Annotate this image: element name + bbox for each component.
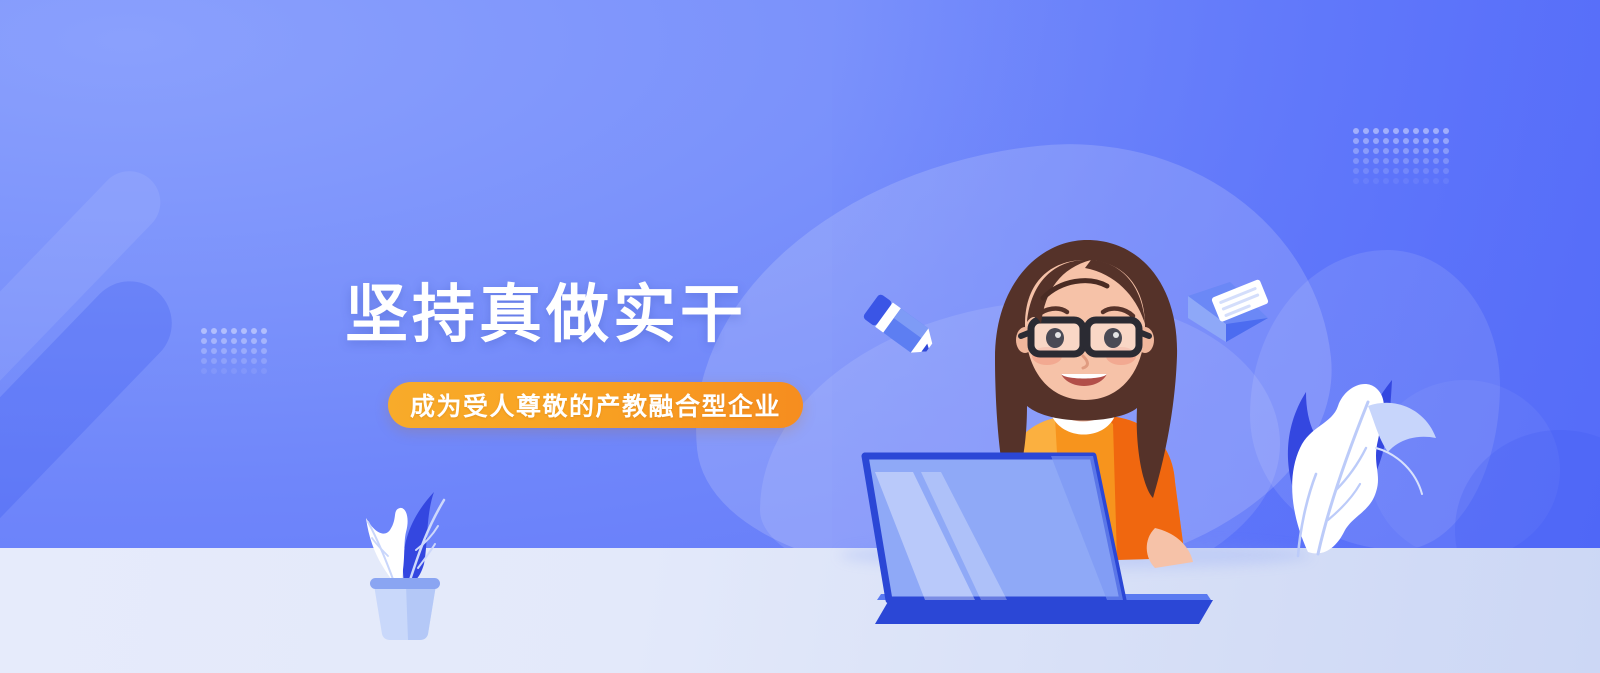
grid-dot [1443, 178, 1449, 184]
grid-dot [211, 348, 217, 354]
grid-dot [1443, 158, 1449, 164]
grid-dot [201, 368, 207, 374]
grid-dot [221, 368, 227, 374]
grid-dot [1423, 158, 1429, 164]
grid-dot [1363, 128, 1369, 134]
subtitle-pill: 成为受人尊敬的产教融合型企业 [388, 382, 803, 428]
laptop-base [875, 600, 1213, 624]
grid-dot [1433, 128, 1439, 134]
woman-working-illustration [855, 228, 1275, 648]
grid-dot [1383, 138, 1389, 144]
grid-dot [261, 338, 267, 344]
grid-dot [1363, 168, 1369, 174]
grid-dot [1383, 168, 1389, 174]
grid-dot [1353, 178, 1359, 184]
grid-dot [201, 358, 207, 364]
grid-dot [1373, 158, 1379, 164]
grid-dot [1403, 128, 1409, 134]
grid-dot [1393, 138, 1399, 144]
grid-dot [1433, 158, 1439, 164]
grid-dot [1423, 138, 1429, 144]
grid-dot [1383, 148, 1389, 154]
grid-dot [1403, 168, 1409, 174]
grid-dot [1363, 148, 1369, 154]
grid-dot [1423, 178, 1429, 184]
grid-dot [1413, 168, 1419, 174]
grid-dot [1393, 168, 1399, 174]
grid-dot [211, 338, 217, 344]
grid-dot [1413, 138, 1419, 144]
dot-grid-left-icon [201, 328, 267, 374]
grid-dot [1393, 178, 1399, 184]
grid-dot [261, 358, 267, 364]
grid-dot [221, 338, 227, 344]
grid-dot [1433, 148, 1439, 154]
grid-dot [1373, 138, 1379, 144]
grid-dot [1403, 178, 1409, 184]
grid-dot [1423, 128, 1429, 134]
grid-dot [261, 328, 267, 334]
grid-dot [1413, 148, 1419, 154]
grid-dot [1393, 158, 1399, 164]
grid-dot [221, 348, 227, 354]
grid-dot [1393, 148, 1399, 154]
grid-dot [201, 338, 207, 344]
potted-plant-icon [348, 452, 458, 642]
grid-dot [1353, 158, 1359, 164]
grid-dot [251, 348, 257, 354]
grid-dot [201, 328, 207, 334]
grid-dot [1413, 128, 1419, 134]
grid-dot [1353, 128, 1359, 134]
grid-dot [251, 358, 257, 364]
grid-dot [231, 328, 237, 334]
grid-dot [1363, 138, 1369, 144]
grid-dot [1373, 168, 1379, 174]
grid-dot [1353, 168, 1359, 174]
grid-dot [1403, 148, 1409, 154]
grid-dot [1423, 148, 1429, 154]
grid-dot [251, 328, 257, 334]
grid-dot [1353, 138, 1359, 144]
grid-dot [1363, 158, 1369, 164]
grid-dot [1433, 138, 1439, 144]
grid-dot [221, 328, 227, 334]
grid-dot [1413, 178, 1419, 184]
grid-dot [231, 348, 237, 354]
grid-dot [1373, 128, 1379, 134]
grid-dot [241, 348, 247, 354]
grid-dot [231, 338, 237, 344]
grid-dot [1383, 158, 1389, 164]
grid-dot [241, 368, 247, 374]
dot-grid-right-icon [1353, 128, 1449, 184]
grid-dot [1383, 128, 1389, 134]
grid-dot [241, 358, 247, 364]
grid-dot [211, 368, 217, 374]
grid-dot [1373, 148, 1379, 154]
grid-dot [1363, 178, 1369, 184]
grid-dot [1423, 168, 1429, 174]
grid-dot [251, 338, 257, 344]
subtitle-pill-label: 成为受人尊敬的产教融合型企业 [410, 387, 781, 423]
grid-dot [1443, 168, 1449, 174]
grid-dot [1373, 178, 1379, 184]
grid-dot [221, 358, 227, 364]
grid-dot [211, 328, 217, 334]
grid-dot [1443, 138, 1449, 144]
grid-dot [1353, 148, 1359, 154]
grid-dot [1383, 178, 1389, 184]
grid-dot [1403, 158, 1409, 164]
grid-dot [1433, 178, 1439, 184]
grid-dot [1413, 158, 1419, 164]
grid-dot [251, 368, 257, 374]
grid-dot [261, 368, 267, 374]
grid-dot [1443, 148, 1449, 154]
grid-dot [241, 338, 247, 344]
grid-dot [1433, 168, 1439, 174]
laptop-screen [865, 456, 1123, 600]
grid-dot [211, 358, 217, 364]
grid-dot [1393, 128, 1399, 134]
hero-banner: 坚持真做实干 成为受人尊敬的产教融合型企业 [0, 0, 1600, 673]
glasses-icon [1021, 320, 1149, 354]
page-title: 坚持真做实干 [345, 278, 747, 352]
grid-dot [241, 328, 247, 334]
grid-dot [231, 368, 237, 374]
grid-dot [201, 348, 207, 354]
grid-dot [231, 358, 237, 364]
grid-dot [1403, 138, 1409, 144]
grid-dot [1443, 128, 1449, 134]
grid-dot [261, 348, 267, 354]
